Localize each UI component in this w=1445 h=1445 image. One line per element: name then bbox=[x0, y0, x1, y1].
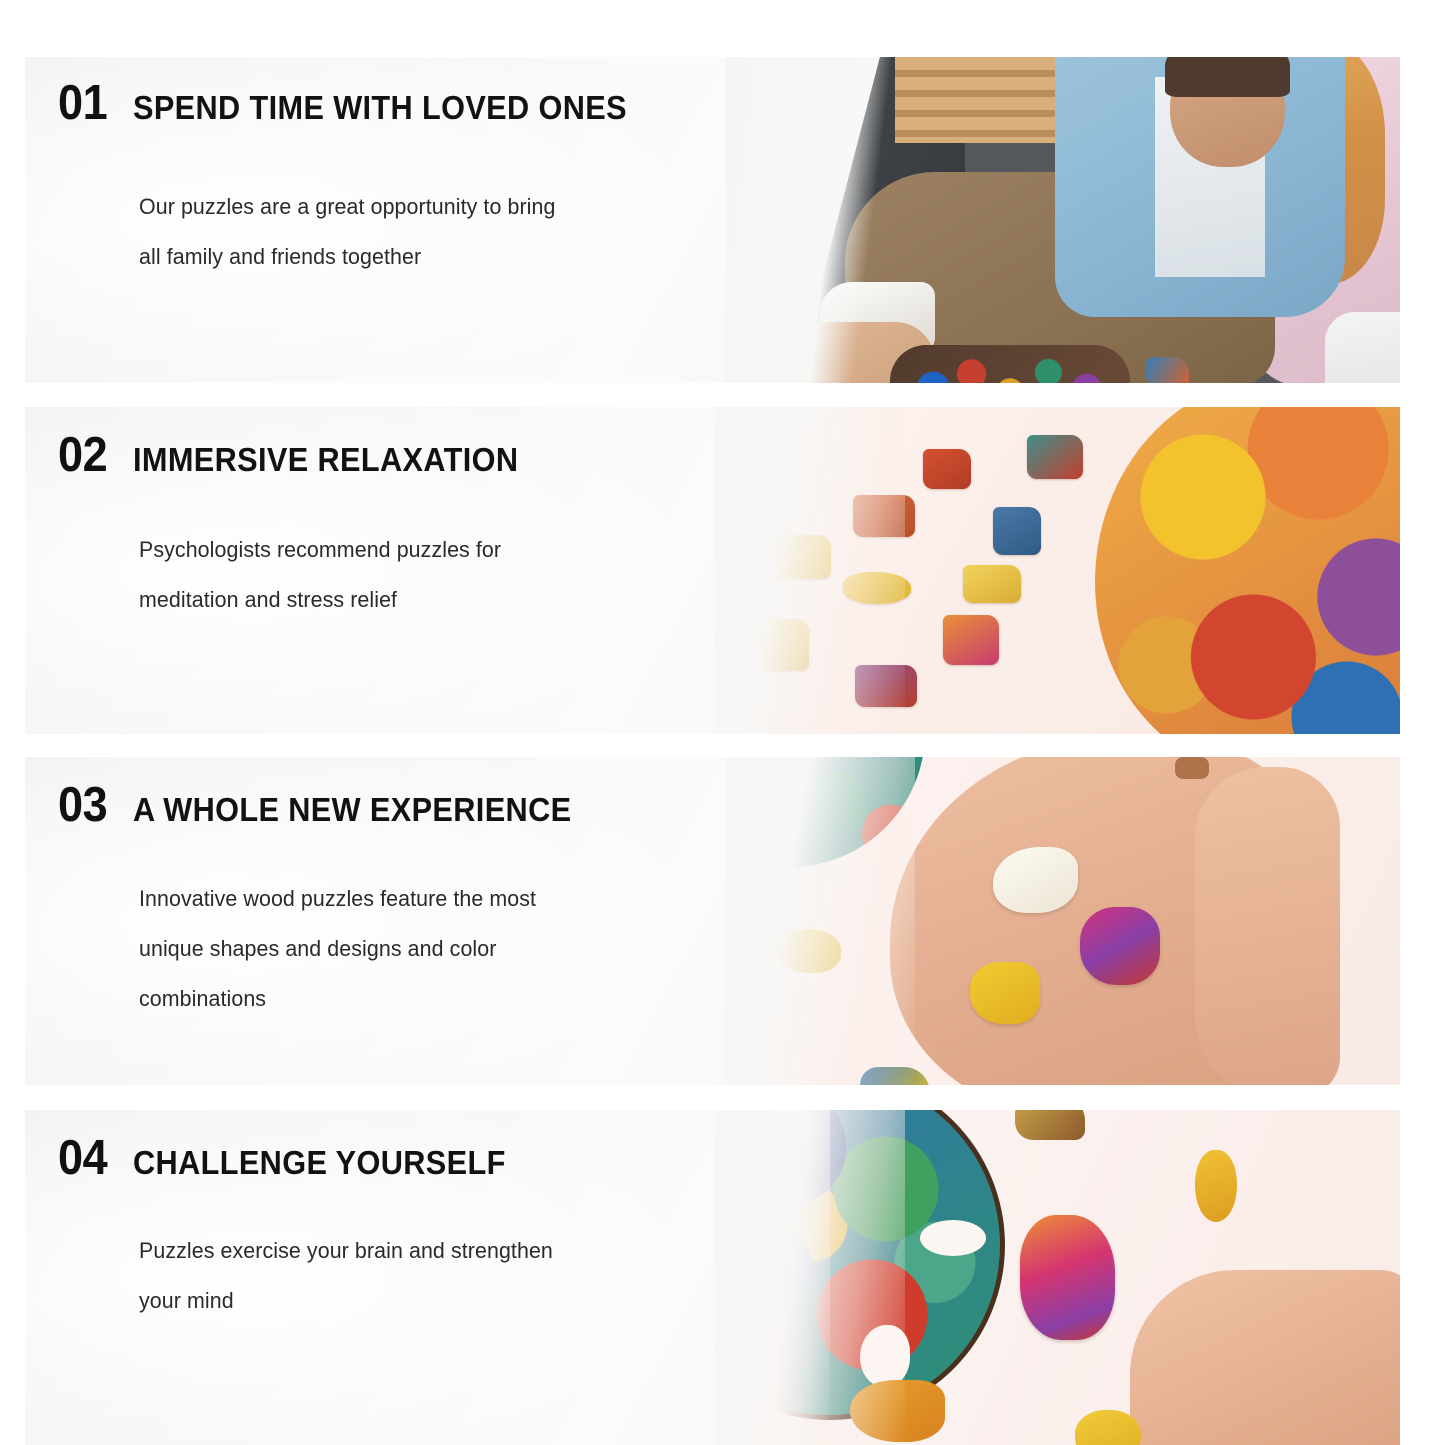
thumb bbox=[1195, 767, 1340, 1085]
woman-pants bbox=[1325, 312, 1400, 383]
panel-4-body: Puzzles exercise your brain and strength… bbox=[139, 1226, 553, 1326]
puzzle-piece bbox=[963, 565, 1021, 603]
feature-panel-3: 03 A WHOLE NEW EXPERIENCE Innovative woo… bbox=[25, 757, 1400, 1085]
assembled-puzzle bbox=[890, 345, 1130, 383]
puzzle-piece bbox=[993, 507, 1041, 555]
dolphin-piece bbox=[993, 847, 1078, 913]
panel-1-text-column: 01 SPEND TIME WITH LOVED ONES Our puzzle… bbox=[25, 57, 795, 383]
small-piece bbox=[1175, 757, 1209, 779]
puzzle-piece bbox=[843, 572, 911, 604]
panel-3-title: A WHOLE NEW EXPERIENCE bbox=[133, 793, 571, 826]
panel-1-title: SPEND TIME WITH LOVED ONES bbox=[133, 91, 627, 124]
panel-3-number: 03 bbox=[58, 781, 107, 830]
panel-2-text-column: 02 IMMERSIVE RELAXATION Psychologists re… bbox=[25, 407, 795, 734]
panel-2-number: 02 bbox=[58, 431, 107, 480]
feature-panel-4: 04 CHALLENGE YOURSELF Puzzles exercise y… bbox=[25, 1110, 1400, 1445]
yellow-animal-piece bbox=[970, 962, 1040, 1024]
puzzle-piece bbox=[1145, 357, 1189, 383]
panel-3-text-column: 03 A WHOLE NEW EXPERIENCE Innovative woo… bbox=[25, 757, 795, 1085]
pointing-finger bbox=[1130, 1270, 1400, 1445]
panel-4-number: 04 bbox=[58, 1134, 107, 1183]
panel-2-heading-row: 02 IMMERSIVE RELAXATION bbox=[58, 431, 547, 480]
panel-1-number: 01 bbox=[58, 79, 107, 128]
purple-animal-piece bbox=[1080, 907, 1160, 985]
panel-2-photo bbox=[715, 407, 1400, 734]
puzzle-piece bbox=[853, 495, 915, 537]
panel-4-text-column: 04 CHALLENGE YOURSELF Puzzles exercise y… bbox=[25, 1110, 795, 1445]
puzzle-piece bbox=[1015, 1110, 1085, 1140]
panel-4-heading-row: 04 CHALLENGE YOURSELF bbox=[58, 1134, 533, 1183]
feature-banner-page: 01 SPEND TIME WITH LOVED ONES Our puzzle… bbox=[0, 0, 1445, 1445]
panel-1-heading-row: 01 SPEND TIME WITH LOVED ONES bbox=[58, 79, 664, 128]
panel-4-photo bbox=[715, 1110, 1400, 1445]
puzzle-piece bbox=[1027, 435, 1083, 479]
puzzle-piece bbox=[943, 615, 999, 665]
panel-4-title: CHALLENGE YOURSELF bbox=[133, 1146, 506, 1179]
dolphin-piece bbox=[850, 1380, 945, 1442]
panel-3-body: Innovative wood puzzles feature the most… bbox=[139, 874, 536, 1024]
puzzle-piece bbox=[855, 665, 917, 707]
panel-2-title: IMMERSIVE RELAXATION bbox=[133, 443, 518, 476]
leaf-piece bbox=[1195, 1150, 1237, 1222]
yellow-piece bbox=[1075, 1410, 1141, 1445]
panel-3-heading-row: 03 A WHOLE NEW EXPERIENCE bbox=[58, 781, 604, 830]
feature-panel-2: 02 IMMERSIVE RELAXATION Psychologists re… bbox=[25, 407, 1400, 734]
assembled-puzzle bbox=[1095, 407, 1400, 734]
feature-panel-1: 01 SPEND TIME WITH LOVED ONES Our puzzle… bbox=[25, 57, 1400, 383]
puzzle-gap bbox=[920, 1220, 986, 1256]
panel-1-body: Our puzzles are a great opportunity to b… bbox=[139, 182, 555, 282]
cat-piece bbox=[1020, 1215, 1115, 1340]
panel-3-photo bbox=[725, 757, 1400, 1085]
panel-2-body: Psychologists recommend puzzles for medi… bbox=[139, 525, 501, 625]
puzzle-piece bbox=[923, 449, 971, 489]
puzzle-gap bbox=[860, 1325, 910, 1387]
man-hair bbox=[1165, 57, 1290, 97]
panel-1-photo bbox=[725, 57, 1400, 383]
